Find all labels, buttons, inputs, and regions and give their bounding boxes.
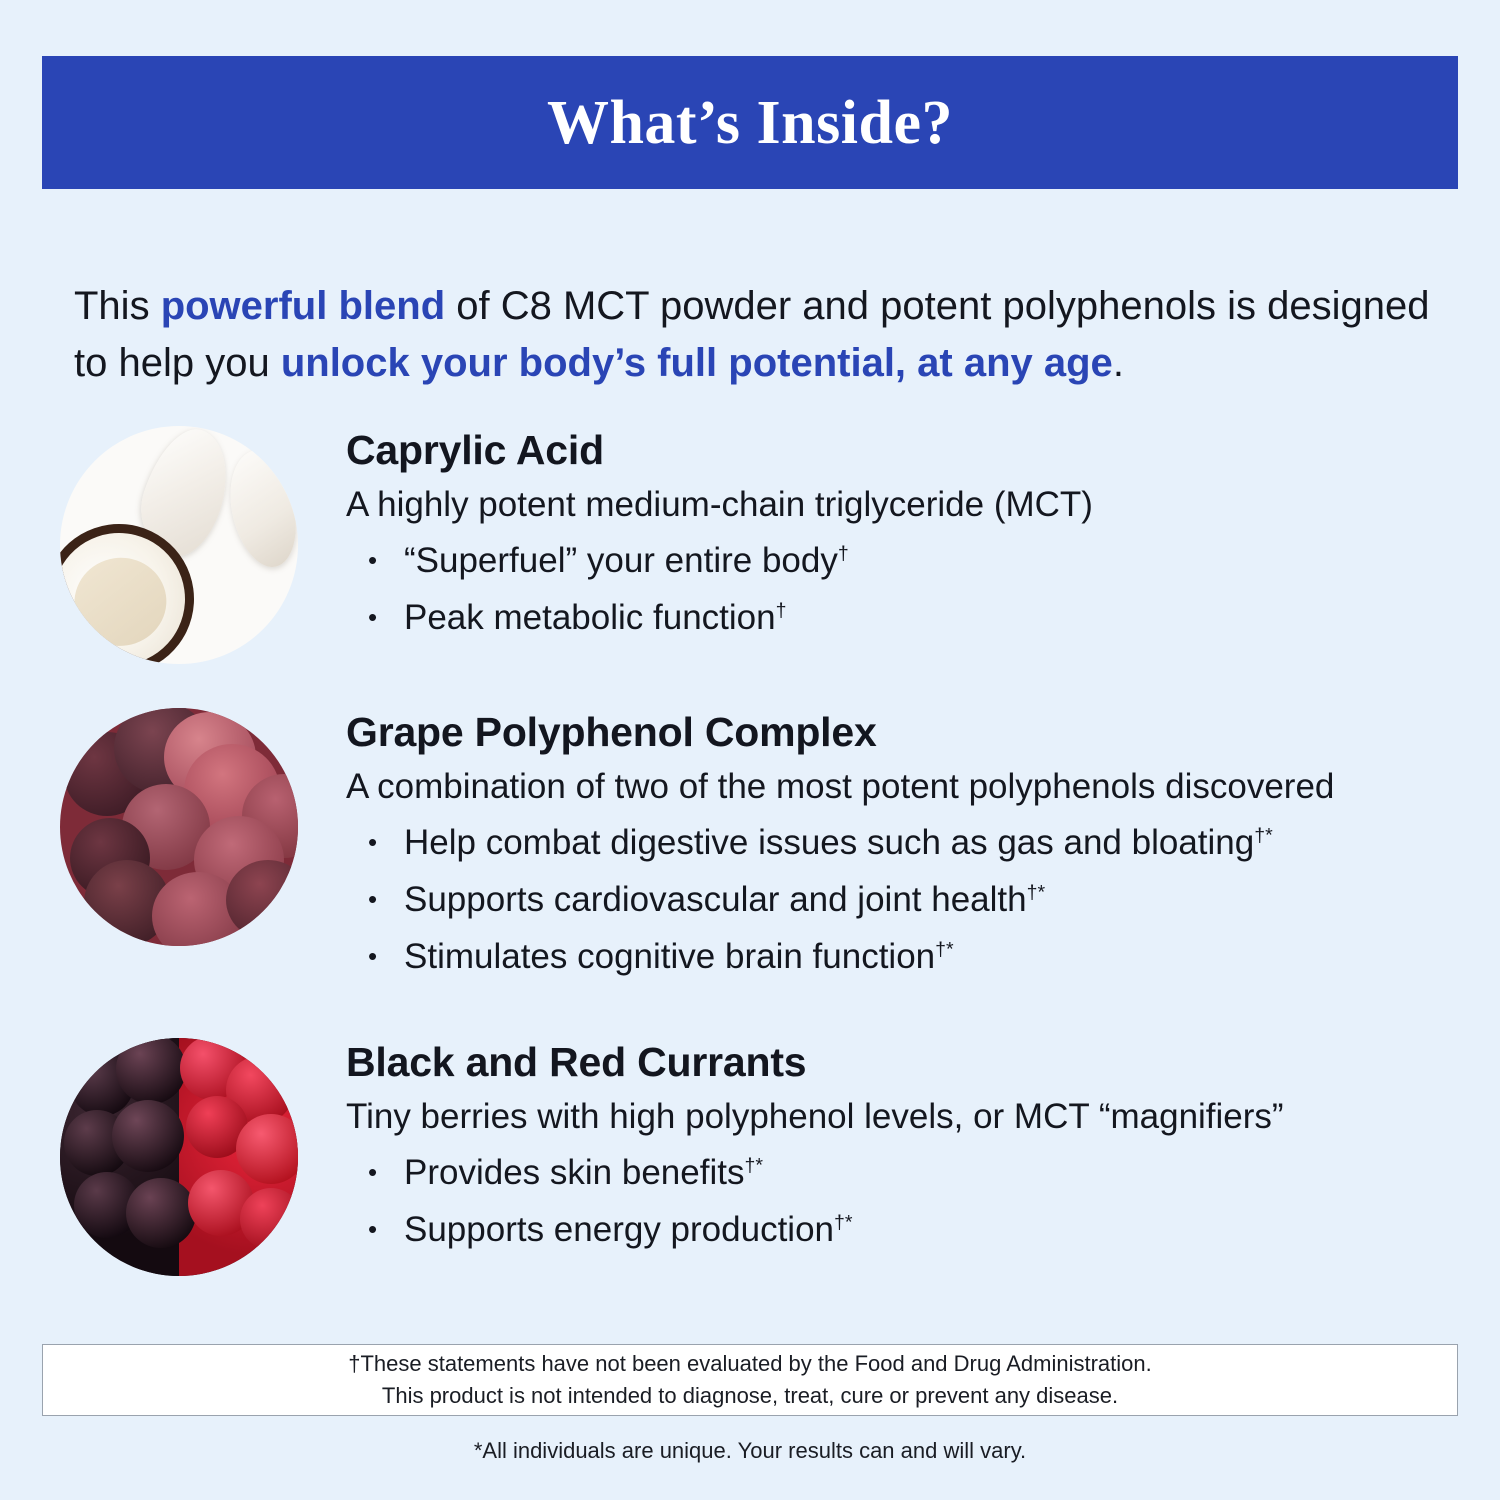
list-item: Supports cardiovascular and joint health…: [346, 872, 1460, 929]
benefit-text: Stimulates cognitive brain function: [404, 937, 935, 976]
ingredient-section-caprylic-acid: Caprylic Acid A highly potent medium-cha…: [60, 424, 1460, 664]
intro-text-part-3: .: [1113, 341, 1124, 385]
coconut-photo: [60, 426, 298, 664]
ingredient-description: A highly potent medium-chain triglycerid…: [346, 482, 1460, 528]
coconut-shard-icon: [219, 444, 298, 573]
disclaimer-line-1: †These statements have not been evaluate…: [348, 1348, 1152, 1380]
intro-highlight-1: powerful blend: [161, 284, 445, 328]
page-header-banner: What’s Inside?: [42, 56, 1458, 189]
ingredient-benefit-list: Help combat digestive issues such as gas…: [346, 815, 1460, 985]
intro-paragraph: This powerful blend of C8 MCT powder and…: [74, 278, 1434, 392]
ingredient-body: Grape Polyphenol Complex A combination o…: [346, 706, 1460, 985]
red-currant-icon: [240, 1188, 298, 1250]
ingredient-body: Caprylic Acid A highly potent medium-cha…: [346, 424, 1460, 647]
list-item: Peak metabolic function†: [346, 590, 1460, 647]
ingredient-title: Black and Red Currants: [346, 1040, 1460, 1086]
ingredient-section-grape-polyphenol-complex: Grape Polyphenol Complex A combination o…: [60, 706, 1460, 985]
ingredient-body: Black and Red Currants Tiny berries with…: [346, 1036, 1460, 1259]
intro-text-part-1: This: [74, 284, 161, 328]
footnote-marker: †*: [834, 1211, 853, 1233]
benefit-text: Supports cardiovascular and joint health: [404, 880, 1027, 919]
list-item: Stimulates cognitive brain function†*: [346, 929, 1460, 986]
ingredient-title: Grape Polyphenol Complex: [346, 710, 1460, 756]
list-item: Help combat digestive issues such as gas…: [346, 815, 1460, 872]
ingredient-benefit-list: Provides skin benefits†* Supports energy…: [346, 1145, 1460, 1258]
list-item: Supports energy production†*: [346, 1202, 1460, 1259]
ingredient-title: Caprylic Acid: [346, 428, 1460, 474]
footnote-marker: †: [776, 599, 787, 621]
red-currant-icon: [236, 1114, 298, 1184]
benefit-text: “Superfuel” your entire body: [404, 541, 838, 580]
footnote-marker: †*: [1027, 881, 1046, 903]
ingredient-section-black-and-red-currants: Black and Red Currants Tiny berries with…: [60, 1036, 1460, 1276]
page-title: What’s Inside?: [547, 92, 953, 154]
benefit-text: Provides skin benefits: [404, 1153, 744, 1192]
ingredient-description: Tiny berries with high polyphenol levels…: [346, 1094, 1460, 1140]
intro-highlight-2: unlock your body’s full potential, at an…: [281, 341, 1113, 385]
disclaimer-line-2: This product is not intended to diagnose…: [382, 1380, 1118, 1412]
ingredient-description: A combination of two of the most potent …: [346, 764, 1460, 810]
fda-disclaimer-box: †These statements have not been evaluate…: [42, 1344, 1458, 1416]
footnote-marker: †*: [1254, 825, 1273, 847]
results-vary-footnote: *All individuals are unique. Your result…: [0, 1438, 1500, 1464]
footnote-marker: †*: [744, 1155, 763, 1177]
benefit-text: Supports energy production: [404, 1210, 834, 1249]
footnote-marker: †*: [935, 938, 954, 960]
footnote-marker: †: [838, 543, 849, 565]
ingredient-benefit-list: “Superfuel” your entire body† Peak metab…: [346, 533, 1460, 646]
list-item: Provides skin benefits†*: [346, 1145, 1460, 1202]
benefit-text: Peak metabolic function: [404, 598, 776, 637]
benefit-text: Help combat digestive issues such as gas…: [404, 823, 1254, 862]
grapes-photo: [60, 708, 298, 946]
black-currant-icon: [126, 1178, 196, 1248]
list-item: “Superfuel” your entire body†: [346, 533, 1460, 590]
currants-photo: [60, 1038, 298, 1276]
black-currant-icon: [112, 1100, 184, 1172]
